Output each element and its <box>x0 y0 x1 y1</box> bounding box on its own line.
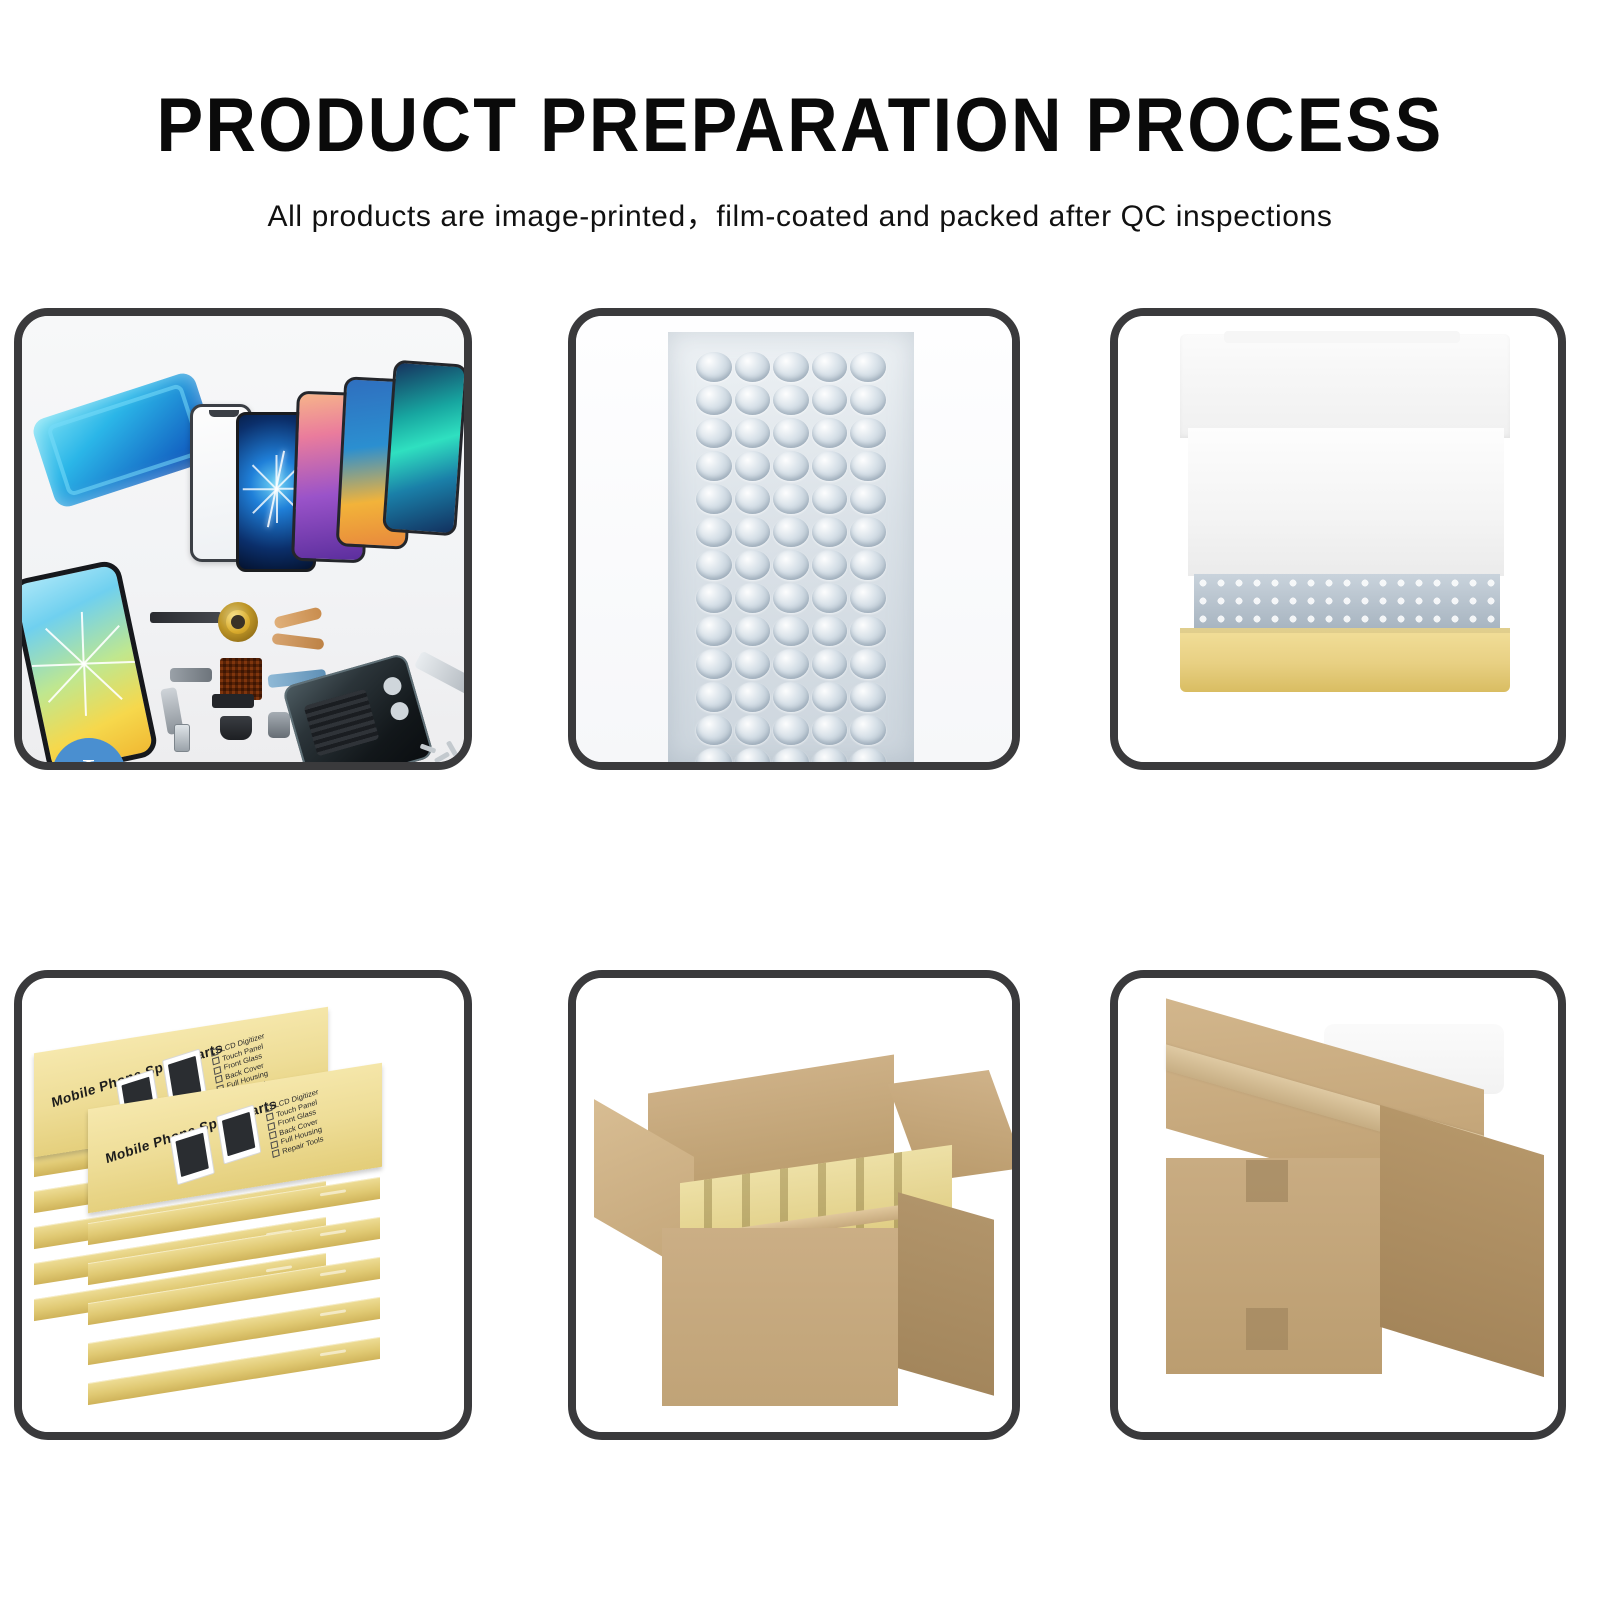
bubble-grid <box>696 352 886 752</box>
mailer-box-lid <box>1180 334 1510 438</box>
speaker-module-part <box>220 716 252 740</box>
stacked-boxes-scene: Mobile Phone Spare Parts LCD Digitizer T… <box>22 978 464 1432</box>
page-subtitle: All products are image-printed，film-coat… <box>0 191 1600 235</box>
camera-module-part <box>268 712 290 738</box>
step-panel-1: I <box>14 308 472 770</box>
phone-parts-scene <box>22 316 464 762</box>
page-title: PRODUCT PREPARATION PROCESS <box>64 82 1536 169</box>
sealed-carton-scene <box>1118 978 1558 1432</box>
step-panel-5: V <box>568 970 1020 1440</box>
carton-side-face <box>1380 1105 1544 1377</box>
flex-cable-part-1 <box>273 606 322 629</box>
open-carton-scene <box>576 978 1012 1432</box>
chip-bar-part <box>212 694 254 708</box>
carton-front-face <box>662 1228 898 1406</box>
flex-cable-part-2 <box>272 633 325 650</box>
product-preparation-infographic: PRODUCT PREPARATION PROCESS All products… <box>0 0 1600 1600</box>
bubble-wrap-pack <box>668 332 914 762</box>
earpiece-strip-part <box>150 612 222 623</box>
repair-tool-tweezers <box>414 651 464 700</box>
inner-box-scene <box>1118 316 1558 762</box>
wireless-charging-coil-part <box>218 602 258 642</box>
connector-part <box>170 668 212 682</box>
crack-pattern-large <box>42 623 125 706</box>
phone-display-teal <box>382 360 464 537</box>
step-panel-4: Mobile Phone Spare Parts LCD Digitizer T… <box>14 970 472 1440</box>
bubble-wrapped-contents <box>1194 574 1500 630</box>
bubble-wrap-scene <box>576 316 1012 762</box>
box-stack: Mobile Phone Spare Parts LCD Digitizer T… <box>26 1024 464 1432</box>
header: PRODUCT PREPARATION PROCESS All products… <box>0 0 1600 235</box>
carton-flap-seam-top <box>1246 1160 1288 1202</box>
step-panel-3: III <box>1110 308 1566 770</box>
process-steps-grid: I <box>0 270 1600 1600</box>
phone-chassis-with-battery <box>282 652 435 762</box>
mailer-box-interior <box>1188 428 1504 576</box>
broken-phone-large <box>22 559 160 762</box>
bubble-texture <box>1194 574 1500 630</box>
step-panel-6: VI <box>1110 970 1566 1440</box>
step-panel-2: II <box>568 308 1020 770</box>
carton-flap-seam-bottom <box>1246 1308 1288 1350</box>
retail-box-checklist: LCD Digitizer Touch Panel Front Glass Ba… <box>264 1071 378 1160</box>
sim-tray-part <box>174 724 190 752</box>
carton-side-face <box>898 1192 994 1396</box>
screws-part <box>420 746 462 762</box>
mailer-box-tray <box>1180 628 1510 692</box>
